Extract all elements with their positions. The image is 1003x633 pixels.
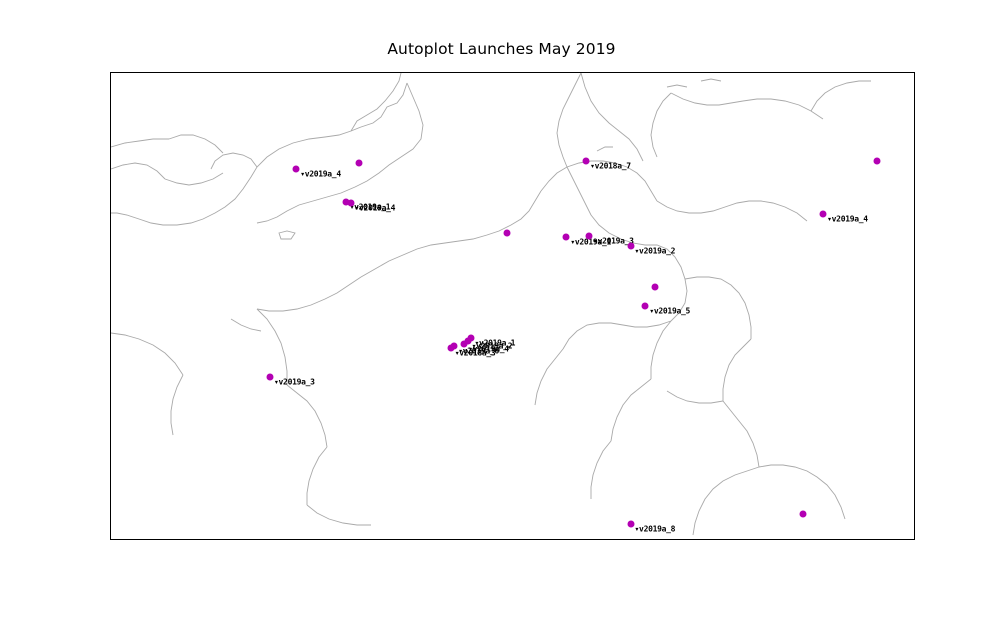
data-point-label: ▾v2019a_4	[300, 170, 341, 179]
data-point-label: ▾v2018a_3	[455, 349, 496, 358]
y-tick-minor	[110, 329, 111, 330]
y-tick-minor	[110, 533, 111, 534]
data-point[interactable]	[627, 521, 634, 528]
data-point[interactable]	[642, 302, 649, 309]
data-point-label: ▾v2018a_7	[590, 161, 631, 170]
y-tick	[110, 73, 111, 74]
data-point[interactable]	[820, 211, 827, 218]
figure: Autoplot Launches May 2019	[0, 0, 1003, 633]
y-tick	[110, 278, 111, 279]
data-point[interactable]	[355, 160, 362, 167]
data-point-label: ▾v2019a_4	[827, 215, 868, 224]
data-point-label: ▾v2019a_5	[649, 306, 690, 315]
data-point[interactable]	[504, 229, 511, 236]
y-tick-minor	[110, 124, 111, 125]
data-point[interactable]	[347, 199, 354, 206]
y-tick	[110, 380, 111, 381]
data-point[interactable]	[293, 166, 300, 173]
data-point[interactable]	[800, 510, 807, 517]
data-point[interactable]	[447, 345, 454, 352]
y-tick-minor	[110, 226, 111, 227]
coastline-map	[111, 73, 915, 540]
data-point[interactable]	[583, 157, 590, 164]
data-point[interactable]	[652, 283, 659, 290]
data-point[interactable]	[627, 242, 634, 249]
map-axes: 4648505254-4-20246810▾v2019a_4▾v2019a_1▾…	[110, 72, 915, 540]
y-tick	[110, 175, 111, 176]
data-point[interactable]	[586, 232, 593, 239]
data-point[interactable]	[563, 233, 570, 240]
y-tick	[110, 482, 111, 483]
data-point[interactable]	[874, 158, 881, 165]
y-tick-minor	[110, 431, 111, 432]
data-point-label: ▾v2019a_4	[355, 203, 396, 212]
data-point-label: ▾v2019a_3	[274, 378, 315, 387]
data-point-label: ▾v2019a_8	[635, 525, 676, 534]
data-point-label: ▾v2019a_2	[635, 246, 676, 255]
chart-title: Autoplot Launches May 2019	[0, 40, 1003, 58]
data-point[interactable]	[267, 374, 274, 381]
